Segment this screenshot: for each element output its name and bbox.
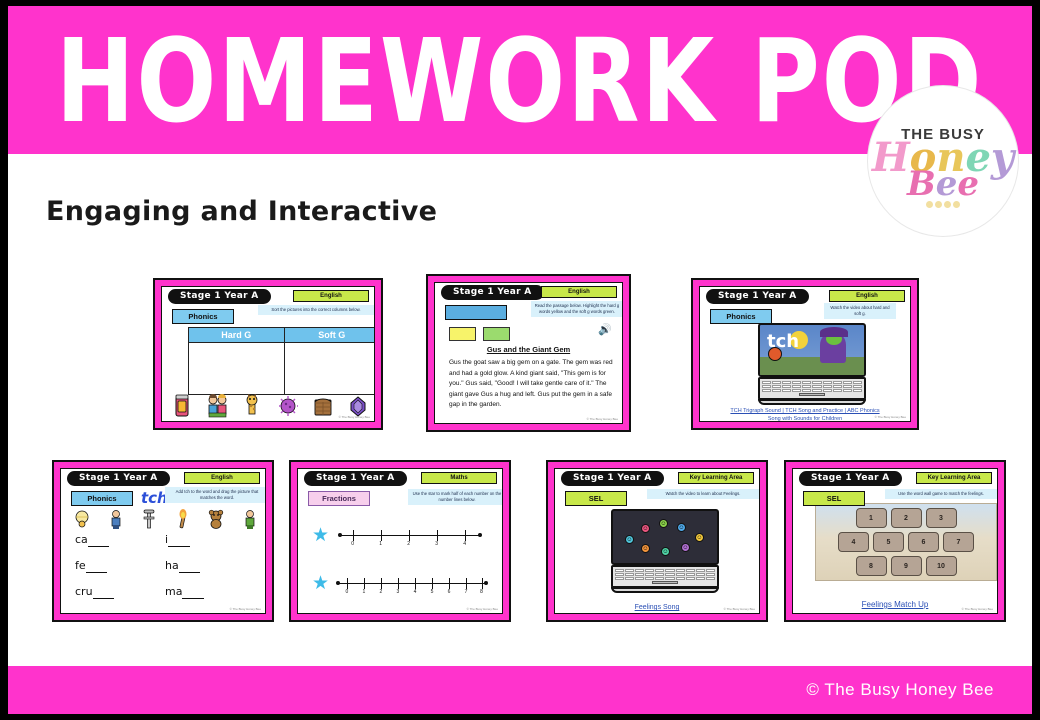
game-tile[interactable]: 4 — [838, 532, 869, 552]
game-tile[interactable]: 5 — [873, 532, 904, 552]
instruction-text: Watch the video about hard and soft g. — [824, 303, 896, 319]
glue-stick-icon[interactable] — [172, 394, 192, 418]
word-row: fe ha — [75, 559, 255, 572]
table-column[interactable]: Soft G — [284, 328, 376, 394]
tick-label: 2 — [380, 589, 383, 595]
card-body: Stage 1 Year A Key Learning Area SEL Use… — [792, 468, 998, 614]
stage-badge: Stage 1 Year A — [561, 471, 664, 486]
card-word-building[interactable]: Stage 1 Year A English Phonics tch Add t… — [52, 460, 274, 622]
card-feelings-video[interactable]: Stage 1 Year A Key Learning Area SEL Wat… — [546, 460, 768, 622]
subject-tab[interactable]: Fractions — [308, 491, 370, 506]
stage-badge: Stage 1 Year A — [67, 471, 170, 486]
germ-icon[interactable] — [278, 394, 298, 418]
word-cell[interactable]: fe — [75, 559, 165, 572]
section-subtitle: Engaging and Interactive — [46, 196, 437, 227]
instruction-text: Read the passage below. Highlight the ha… — [531, 301, 623, 317]
laptop-illustration[interactable]: tch — [758, 323, 866, 405]
emoji-icon: ☺ — [625, 535, 634, 544]
tick-label: 7 — [465, 589, 468, 595]
subject-tab[interactable]: SEL — [565, 491, 627, 506]
match-game-board[interactable]: 1 2 3 4 5 6 7 8 9 10 — [815, 503, 997, 581]
instruction-text: Use the word wall game to match the feel… — [885, 489, 997, 499]
card-video-tch[interactable]: Stage 1 Year A English Phonics Watch the… — [691, 278, 919, 430]
word-cell[interactable]: cru — [75, 585, 165, 598]
stage-badge: Stage 1 Year A — [441, 285, 544, 300]
gate-icon[interactable] — [313, 394, 333, 418]
word-blank[interactable] — [179, 559, 201, 573]
emoji-icon: ☺ — [641, 544, 650, 553]
sort-table: Hard G Soft G — [188, 327, 375, 395]
stage-badge: Stage 1 Year A — [799, 471, 902, 486]
kla-badge: Key Learning Area — [916, 472, 992, 484]
kla-badge: English — [184, 472, 260, 484]
word-grid: ca i fe ha cru ma — [75, 533, 255, 611]
speaker-icon[interactable]: 🔊 — [598, 323, 612, 336]
credit-text: © The Busy Honey Bee — [962, 607, 993, 611]
kla-badge: English — [829, 290, 905, 302]
card-body: Stage 1 Year A English Phonics tch Add t… — [60, 468, 266, 614]
laptop-base — [758, 399, 866, 405]
word-stem: fe — [75, 559, 86, 572]
emoji-icon: ☺ — [681, 543, 690, 552]
slide-page: HOMEWORK POD THE BUSY Honey Bee Engaging… — [8, 6, 1032, 714]
stage-badge: Stage 1 Year A — [304, 471, 407, 486]
match-icon[interactable] — [174, 509, 192, 529]
star-marker[interactable]: ★ — [312, 527, 330, 545]
tick-label: 8 — [480, 589, 483, 595]
game-tile[interactable]: 2 — [891, 508, 922, 528]
tile-row: 8 9 10 — [816, 556, 996, 576]
game-tile[interactable]: 6 — [908, 532, 939, 552]
card-body: Stage 1 Year A English Phonics Watch the… — [699, 286, 911, 422]
word-cell[interactable]: ma — [165, 585, 255, 598]
giraffe-icon[interactable] — [242, 394, 262, 418]
card-fractions[interactable]: Stage 1 Year A Maths Fractions Use the s… — [289, 460, 511, 622]
credit-text: © The Busy Honey Bee — [339, 415, 370, 419]
credit-text: © The Busy Honey Bee — [467, 607, 498, 611]
table-column[interactable]: Hard G — [189, 328, 284, 394]
tick-label: 5 — [431, 589, 434, 595]
laptop-illustration[interactable]: ☺ ☺ ☺ ☺ ☺ ☺ ☺ ☺ — [611, 509, 719, 593]
tick-label: 0 — [345, 589, 348, 595]
game-tile[interactable]: 3 — [926, 508, 957, 528]
stage-badge: Stage 1 Year A — [706, 289, 809, 304]
word-blank[interactable] — [168, 533, 190, 547]
word-stem: ma — [165, 585, 182, 598]
game-tile[interactable]: 1 — [856, 508, 887, 528]
credit-text: © The Busy Honey Bee — [587, 417, 618, 421]
credit-text: © The Busy Honey Bee — [875, 415, 906, 419]
stage-badge: Stage 1 Year A — [168, 289, 271, 304]
tick-label: 3 — [435, 541, 438, 547]
laptop-keyboard — [611, 565, 719, 588]
emoji-icon: ☺ — [659, 519, 668, 528]
highlighter-yellow[interactable] — [449, 327, 476, 341]
card-feelings-game[interactable]: Stage 1 Year A Key Learning Area SEL Use… — [784, 460, 1006, 622]
page-footer: © The Busy Honey Bee — [8, 666, 1032, 714]
number-line[interactable]: 0 1 2 3 4 — [340, 529, 480, 549]
game-tile[interactable]: 10 — [926, 556, 957, 576]
subject-tab[interactable] — [445, 305, 507, 320]
subject-tab[interactable]: Phonics — [710, 309, 772, 324]
instruction-text: Sort the pictures into the correct colum… — [258, 305, 374, 315]
card-body: Stage 1 Year A Maths Fractions Use the s… — [297, 468, 503, 614]
story-text: Gus the goat saw a big gem on a gate. Th… — [449, 358, 617, 411]
tick-label: 4 — [463, 541, 466, 547]
footer-copyright: © The Busy Honey Bee — [806, 680, 994, 700]
word-cell[interactable]: ha — [165, 559, 255, 572]
kla-badge: Maths — [421, 472, 497, 484]
tick-label: 3 — [397, 589, 400, 595]
kla-badge: English — [541, 286, 617, 298]
laptop-keyboard — [758, 377, 866, 400]
tick-label: 0 — [351, 541, 354, 547]
tick-label: 1 — [379, 541, 382, 547]
word-blank[interactable] — [182, 585, 204, 599]
column-header: Soft G — [285, 328, 376, 343]
word-blank[interactable] — [88, 533, 110, 547]
number-line[interactable]: 0 1 2 3 4 5 6 7 8 — [338, 577, 486, 597]
page-title: HOMEWORK POD — [56, 25, 984, 140]
crutch-icon[interactable] — [140, 509, 158, 529]
tile-row: 1 2 3 — [816, 508, 996, 528]
instruction-text: Watch the video to learn about Feelings. — [647, 489, 759, 499]
tile-row: 4 5 6 7 — [816, 532, 996, 552]
word-cell[interactable]: i — [165, 533, 255, 546]
credit-text: © The Busy Honey Bee — [230, 607, 261, 611]
emoji-icon: ☺ — [677, 523, 686, 532]
word-row: cru ma — [75, 585, 255, 598]
laptop-base — [611, 587, 719, 593]
credit-text: © The Busy Honey Bee — [724, 607, 755, 611]
subject-tab[interactable]: Phonics — [172, 309, 234, 324]
word-cell[interactable]: ca — [75, 533, 165, 546]
emoji-icon: ☺ — [641, 524, 650, 533]
story-title: Gus and the Giant Gem — [435, 345, 622, 354]
word-blank[interactable] — [86, 559, 108, 573]
instruction-text: Use the star to mark half of each number… — [408, 489, 503, 505]
word-stem: cru — [75, 585, 93, 598]
emoji-icon: ☺ — [661, 547, 670, 556]
card-body: Stage 1 Year A Key Learning Area SEL Wat… — [554, 468, 760, 614]
catch-icon[interactable] — [73, 509, 91, 529]
kla-badge: English — [293, 290, 369, 302]
card-reading-passage[interactable]: Stage 1 Year A English Read the passage … — [426, 274, 631, 432]
word-blank[interactable] — [93, 585, 115, 599]
column-header: Hard G — [189, 328, 284, 343]
focus-grapheme: tch — [141, 489, 168, 507]
logo-bee-text: Bee — [907, 169, 979, 200]
star-marker[interactable]: ★ — [312, 575, 330, 593]
game-tile[interactable]: 7 — [943, 532, 974, 552]
children-icon[interactable] — [207, 394, 227, 418]
pitch-icon[interactable] — [107, 509, 125, 529]
teddy-icon[interactable] — [207, 509, 225, 529]
instruction-text: Add tch to the word and drag the picture… — [165, 487, 266, 503]
kla-badge: Key Learning Area — [678, 472, 754, 484]
tick-label: 1 — [363, 589, 366, 595]
word-stem: ca — [75, 533, 88, 546]
brand-logo: THE BUSY Honey Bee — [868, 86, 1018, 236]
game-tile[interactable]: 9 — [891, 556, 922, 576]
honeycomb-icon — [926, 201, 960, 208]
tick-label: 6 — [448, 589, 451, 595]
picture-tray — [73, 509, 259, 529]
card-body: Stage 1 Year A English Read the passage … — [434, 282, 623, 424]
laptop-screen: ☺ ☺ ☺ ☺ ☺ ☺ ☺ ☺ — [611, 509, 719, 565]
emoji-icon: ☺ — [695, 533, 704, 542]
subject-tab[interactable]: Phonics — [71, 491, 133, 506]
word-row: ca i — [75, 533, 255, 546]
game-tile[interactable]: 8 — [856, 556, 887, 576]
highlighter-green[interactable] — [483, 327, 510, 341]
card-phonics-sort[interactable]: Stage 1 Year A English Phonics Sort the … — [153, 278, 383, 430]
screen-text: tch — [767, 331, 799, 352]
subject-tab[interactable]: SEL — [803, 491, 865, 506]
laptop-screen: tch — [758, 323, 866, 377]
word-stem: ha — [165, 559, 179, 572]
hatch-icon[interactable] — [241, 509, 259, 529]
card-body: Stage 1 Year A English Phonics Sort the … — [161, 286, 375, 422]
tick-label: 4 — [414, 589, 417, 595]
tick-label: 2 — [407, 541, 410, 547]
